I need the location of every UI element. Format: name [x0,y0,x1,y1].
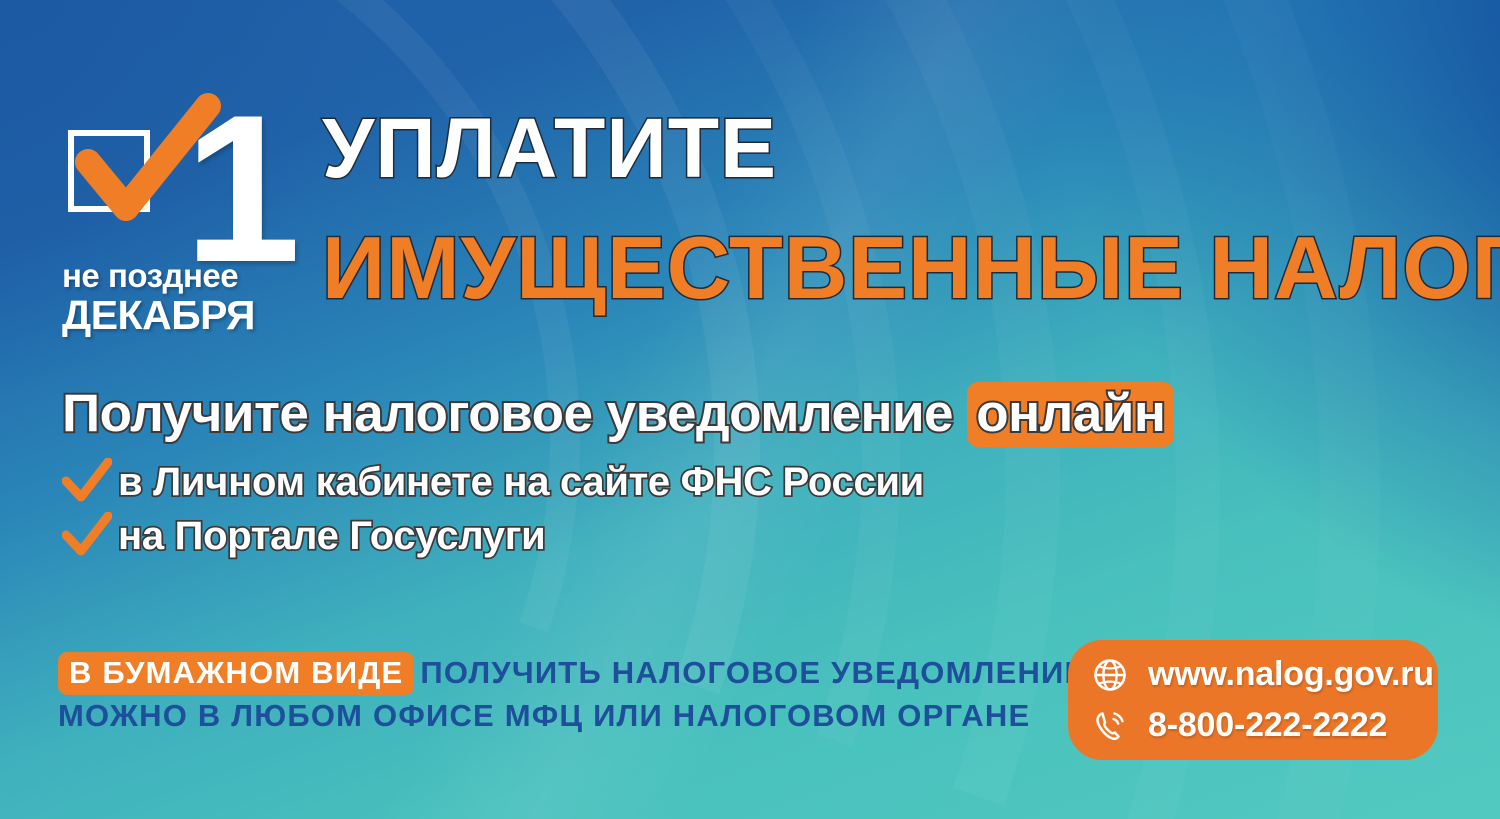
globe-icon [1090,657,1130,693]
online-notice-title: Получите налоговое уведомление онлайн [62,385,1174,442]
online-notice-title-prefix: Получите налоговое уведомление [62,384,967,443]
headline-line-1: УПЛАТИТЕ [322,108,777,189]
online-highlight-chip: онлайн [967,382,1174,447]
headline: УПЛАТИТЕ ИМУЩЕСТВЕННЫЕ НАЛОГИ [322,108,777,189]
paper-format-chip: В БУМАЖНОМ ВИДЕ [58,652,414,695]
list-item: на Портале Госуслуги [62,512,1174,560]
phone-icon [1090,708,1130,744]
list-item-label: в Личном кабинете на сайте ФНС России [118,462,924,502]
online-notice-block: Получите налоговое уведомление онлайн в … [62,385,1174,566]
check-icon [62,458,118,507]
contact-website-row[interactable]: www.nalog.gov.ru [1090,650,1420,699]
paper-notice-line-2: МОЖНО В ЛЮБОМ ОФИСЕ МФЦ ИЛИ НАЛОГОВОМ ОР… [58,695,1086,738]
paper-notice-line-1: В БУМАЖНОМ ВИДЕПОЛУЧИТЬ НАЛОГОВОЕ УВЕДОМ… [58,652,1086,695]
list-item: в Личном кабинете на сайте ФНС России [62,458,1174,506]
online-notice-bullets: в Личном кабинете на сайте ФНС России на… [62,458,1174,560]
headline-line-2: ИМУЩЕСТВЕННЫЕ НАЛОГИ [322,226,1500,310]
paper-notice-block: В БУМАЖНОМ ВИДЕПОЛУЧИТЬ НАЛОГОВОЕ УВЕДОМ… [58,652,1086,738]
contact-phone-label[interactable]: 8-800-222-2222 [1148,706,1387,745]
tax-notice-poster: 1 не позднее ДЕКАБРЯ УПЛАТИТЕ ИМУЩЕСТВЕН… [0,0,1500,819]
content-layer: 1 не позднее ДЕКАБРЯ УПЛАТИТЕ ИМУЩЕСТВЕН… [0,0,1500,819]
paper-notice-line-1-rest: ПОЛУЧИТЬ НАЛОГОВОЕ УВЕДОМЛЕНИЕ [420,655,1086,690]
contact-website-label[interactable]: www.nalog.gov.ru [1148,655,1434,694]
deadline-block: 1 не позднее ДЕКАБРЯ [62,108,322,337]
contact-phone-row[interactable]: 8-800-222-2222 [1090,701,1420,750]
check-icon [62,512,118,561]
deadline-day-number: 1 [184,84,295,294]
deadline-mark-row: 1 [62,108,322,258]
contact-card[interactable]: www.nalog.gov.ru 8-800-222-2222 [1068,640,1438,760]
list-item-label: на Портале Госуслуги [118,516,545,556]
